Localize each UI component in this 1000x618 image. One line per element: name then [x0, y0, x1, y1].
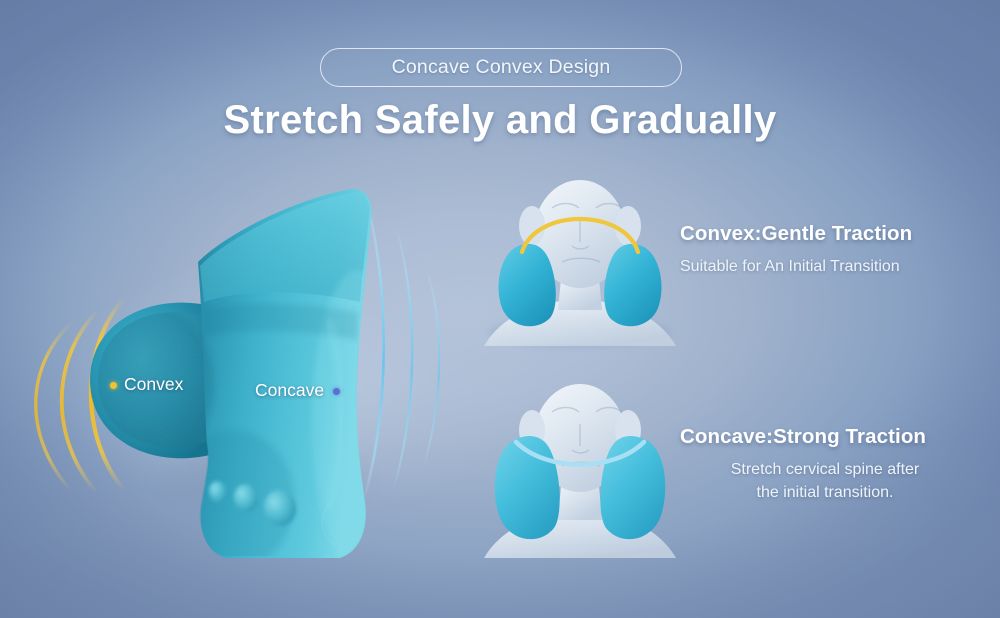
promo-banner: Concave Convex Design Stretch Safely and…	[0, 0, 1000, 618]
feature-concave-title: Concave:Strong Traction	[680, 425, 1000, 449]
convex-label: Convex	[124, 374, 183, 395]
mannequin-concave-figure	[470, 368, 690, 563]
concave-label: Concave	[255, 380, 324, 401]
acupressure-bumps-lower	[209, 565, 301, 570]
feature-concave: Concave:Strong Traction Stretch cervical…	[680, 425, 1000, 504]
pillow-pad-right	[604, 244, 661, 326]
feature-concave-description: Stretch cervical spine afterthe initial …	[680, 458, 970, 504]
concave-marker-dot	[333, 388, 340, 395]
neck-stretcher-pillow	[28, 170, 468, 570]
design-badge-label: Concave Convex Design	[392, 56, 611, 79]
feature-convex-title: Convex:Gentle Traction	[680, 222, 1000, 246]
mannequin-ear-left	[519, 206, 545, 246]
mannequin-convex-figure	[470, 160, 690, 355]
page-title: Stretch Safely and Gradually	[0, 98, 1000, 143]
mannequin-ear-right	[615, 206, 641, 246]
feature-convex: Convex:Gentle Traction Suitable for An I…	[680, 222, 1000, 278]
convex-marker-dot	[110, 382, 117, 389]
feature-convex-description: Suitable for An Initial Transition	[680, 255, 1000, 278]
pillow-illustration	[28, 170, 468, 570]
pillow-pad-left	[499, 244, 556, 326]
design-badge: Concave Convex Design	[320, 48, 682, 87]
